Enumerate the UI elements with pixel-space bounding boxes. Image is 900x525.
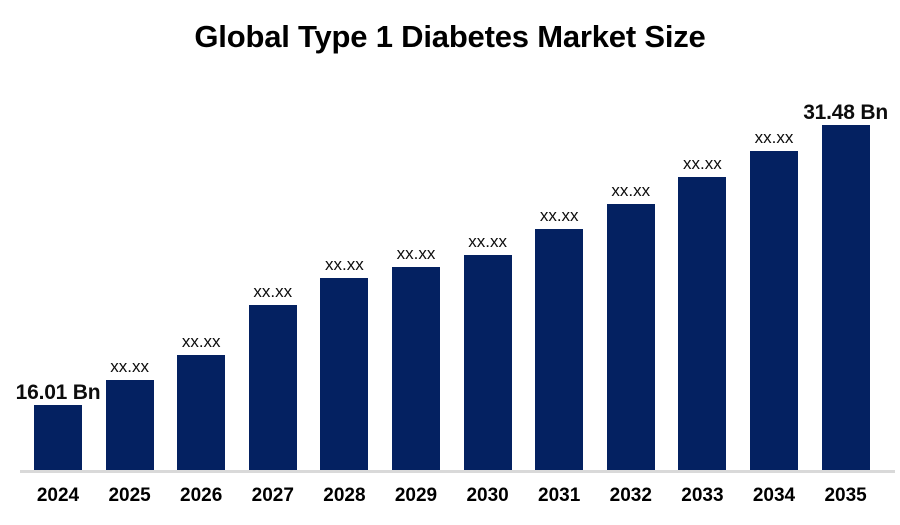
bar-group: xx.xx	[750, 0, 798, 475]
bar-group: xx.xx	[392, 0, 440, 475]
bar-value-label: xx.xx	[182, 332, 221, 352]
bar[interactable]	[750, 151, 798, 471]
bar-group: 16.01 Bn	[34, 0, 82, 475]
bar-group: xx.xx	[249, 0, 297, 475]
x-axis-label-2027: 2027	[238, 481, 308, 511]
x-axis-label-2034: 2034	[739, 481, 809, 511]
bar-value-label: 31.48 Bn	[803, 103, 888, 123]
x-axis-labels: 2024202520262027202820292030203120322033…	[0, 478, 900, 518]
bar[interactable]	[249, 305, 297, 471]
bar-value-label: xx.xx	[110, 357, 149, 377]
bar[interactable]	[106, 380, 154, 471]
bar-value-label: xx.xx	[253, 282, 292, 302]
bar[interactable]	[607, 204, 655, 471]
bar[interactable]	[34, 405, 82, 471]
bar-value-label: xx.xx	[755, 128, 794, 148]
bar-group: xx.xx	[678, 0, 726, 475]
bar[interactable]	[392, 267, 440, 471]
bar[interactable]	[320, 278, 368, 471]
bar-value-label: xx.xx	[611, 181, 650, 201]
x-axis-label-2030: 2030	[453, 481, 523, 511]
bar-group: xx.xx	[464, 0, 512, 475]
x-axis-label-2025: 2025	[95, 481, 165, 511]
bar-value-label: xx.xx	[683, 154, 722, 174]
bar-value-label: xx.xx	[325, 255, 364, 275]
chart-container: Global Type 1 Diabetes Market Size 16.01…	[0, 0, 900, 525]
plot-area: 16.01 Bnxx.xxxx.xxxx.xxxx.xxxx.xxxx.xxxx…	[0, 0, 900, 475]
x-axis-label-2029: 2029	[381, 481, 451, 511]
bar-value-label: xx.xx	[468, 232, 507, 252]
bar-group: xx.xx	[320, 0, 368, 475]
bar-group: xx.xx	[106, 0, 154, 475]
x-axis-label-2035: 2035	[811, 481, 881, 511]
bar[interactable]	[464, 255, 512, 471]
x-axis-label-2032: 2032	[596, 481, 666, 511]
bar-group: 31.48 Bn	[822, 0, 870, 475]
bar-group: xx.xx	[177, 0, 225, 475]
bar-value-label: xx.xx	[397, 244, 436, 264]
bar-group: xx.xx	[607, 0, 655, 475]
bar[interactable]	[535, 229, 583, 471]
bar-value-label: xx.xx	[540, 206, 579, 226]
bar[interactable]	[177, 355, 225, 471]
x-axis-label-2028: 2028	[309, 481, 379, 511]
x-axis-label-2026: 2026	[166, 481, 236, 511]
bar[interactable]	[822, 125, 870, 471]
bar-value-label: 16.01 Bn	[16, 383, 101, 403]
bar-group: xx.xx	[535, 0, 583, 475]
x-axis-line	[20, 470, 895, 473]
x-axis-label-2024: 2024	[23, 481, 93, 511]
bar[interactable]	[678, 177, 726, 471]
x-axis-label-2033: 2033	[667, 481, 737, 511]
x-axis-label-2031: 2031	[524, 481, 594, 511]
